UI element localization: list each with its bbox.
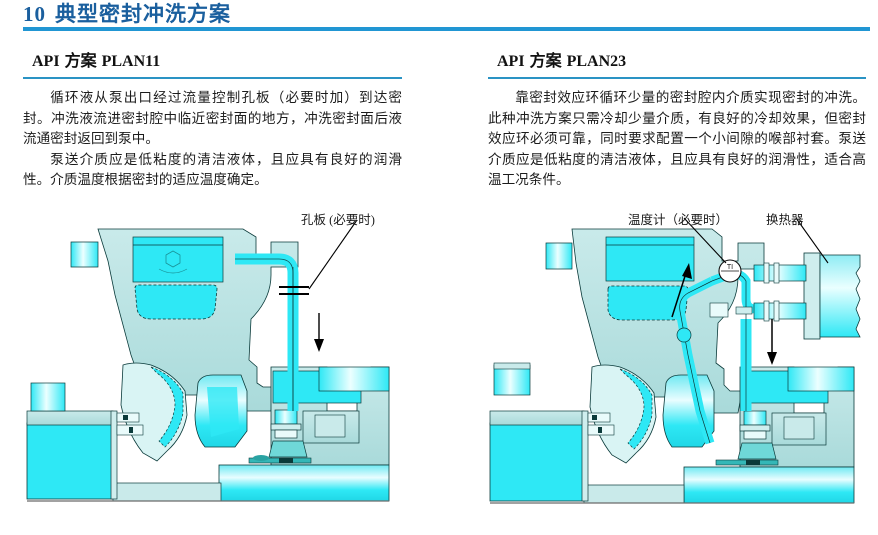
temperature-indicator-tag: TI xyxy=(727,264,733,271)
section-heading-plan23: API方案PLAN23 xyxy=(488,52,866,72)
callout-orifice-plate: 孔板 (必要时) xyxy=(301,209,375,228)
document-page: 10典型密封冲洗方案 API方案PLAN11 循环液从泵出口经过流量控制孔板（必… xyxy=(0,0,878,535)
heading-plan-cn: 方案 xyxy=(65,53,97,70)
heading-api-label: API xyxy=(32,53,60,70)
callout-heat-exchanger: 换热器 xyxy=(766,209,804,228)
chapter-title-text: 典型密封冲洗方案 xyxy=(55,2,231,26)
heading-plan-code-2: PLAN23 xyxy=(567,53,627,70)
heading-plan-cn-2: 方案 xyxy=(530,53,562,70)
column-right: API方案PLAN23 靠密封效应环循环少量的密封腔内介质实现密封的冲洗。此种冲… xyxy=(488,52,866,191)
paragraph-plan11-2: 泵送介质应是低粘度的清洁液体，且应具有良好的润滑性。介质温度根据密封的适应温度确… xyxy=(23,150,402,191)
callout-leader-orifice xyxy=(309,220,357,289)
pump-casing-body-2 xyxy=(546,229,764,413)
paragraph-plan11-1: 循环液从泵出口经过流量控制孔板（必要时加）到达密封。冲洗液流进密封腔中临近密封面… xyxy=(23,88,402,150)
chapter-number: 10 xyxy=(23,2,46,26)
flow-arrow-down-2 xyxy=(767,319,777,365)
callout-thermometer: 温度计（必要时） xyxy=(628,209,728,228)
heading-api-label-2: API xyxy=(497,53,525,70)
diagram-plan11: 孔板 (必要时) xyxy=(23,215,423,525)
section-heading-plan11: API方案PLAN11 xyxy=(23,52,402,72)
chapter-title-line: 10典型密封冲洗方案 xyxy=(23,2,870,26)
paragraph-plan23-1: 靠密封效应环循环少量的密封腔内介质实现密封的冲洗。此种冲洗方案只需冷却少量介质，… xyxy=(488,88,866,191)
section-divider-left xyxy=(23,77,402,79)
heading-plan-code: PLAN11 xyxy=(102,53,161,70)
section-divider-right xyxy=(488,77,866,79)
temperature-indicator-icon: TI xyxy=(719,260,741,282)
flow-arrow-down xyxy=(314,313,324,352)
column-left: API方案PLAN11 循环液从泵出口经过流量控制孔板（必要时加）到达密封。冲洗… xyxy=(23,52,402,191)
title-divider xyxy=(23,27,870,31)
diagram-plan23: TI 温度计（必要时） 换热器 xyxy=(488,215,868,525)
